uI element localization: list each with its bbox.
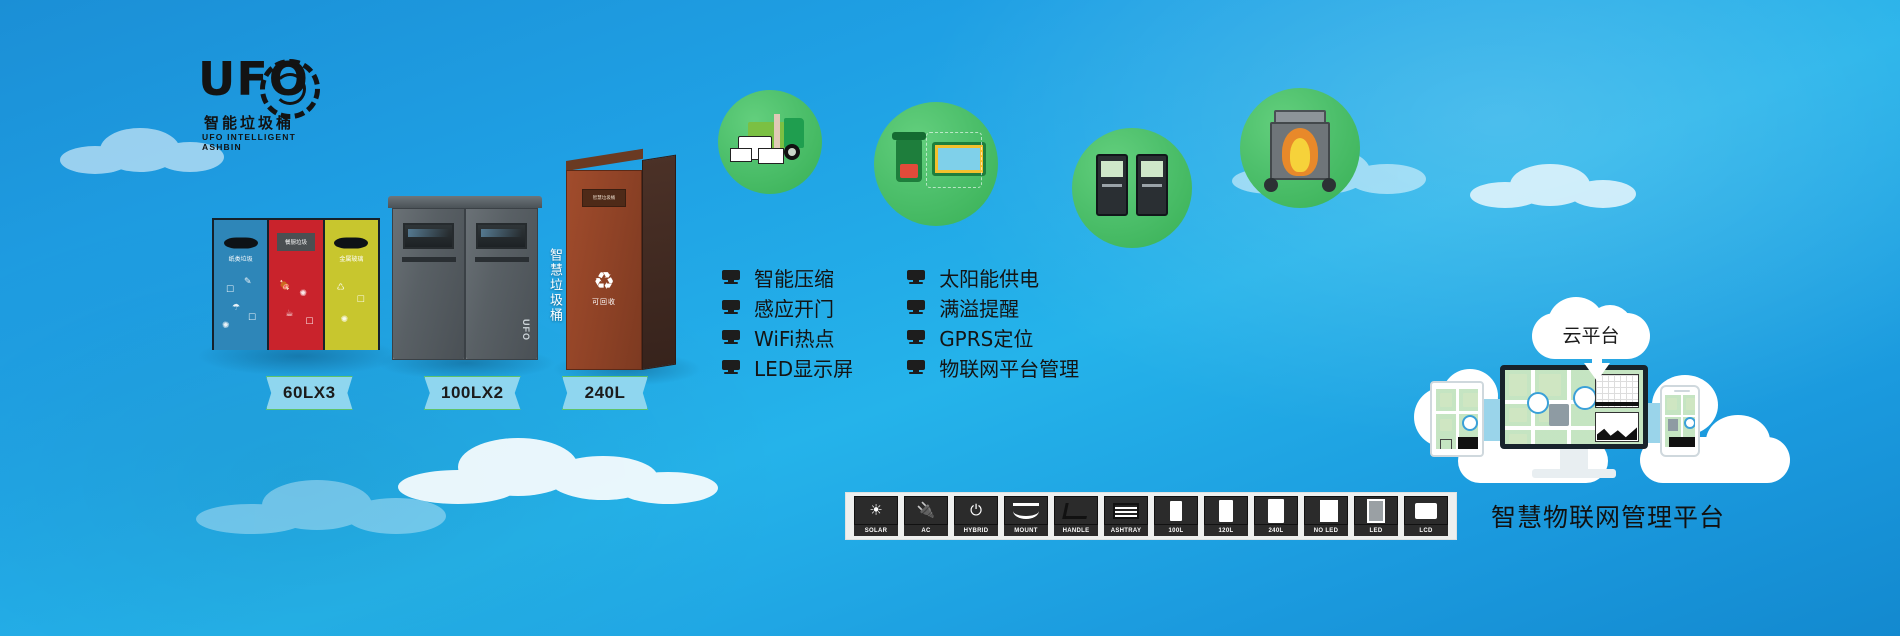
logo-ring-icon: [260, 59, 320, 119]
spec-icon-label: HYBRID: [954, 525, 998, 536]
feature-item: 满溢提醒: [907, 292, 1079, 322]
bin-brand-mark: UFO: [521, 319, 531, 341]
cloud-decoration: [196, 470, 456, 540]
cloud-decoration: [1470, 160, 1640, 216]
bin-front-face: 智慧垃圾桶 ♻ 可回收: [566, 170, 642, 370]
bin-info-panel: 智慧垃圾桶: [582, 189, 626, 207]
download-arrow-icon: [1584, 363, 1610, 381]
monitor-bullet-icon: [907, 360, 925, 374]
feature-column-left: 智能压缩 感应开门 WiFi热点 LED显示屏: [722, 262, 853, 382]
logo-chinese-name: 智能垃圾桶: [204, 112, 294, 133]
feature-item: 感应开门: [722, 292, 853, 322]
feature-item: GPRS定位: [907, 322, 1079, 352]
spec-icon-label: 240L: [1254, 525, 1298, 536]
bin-display-screen: [476, 223, 527, 249]
poster-canvas: UFO 智能垃圾桶 UFO INTELLIGENT ASHBIN 纸类垃圾 ☐ …: [0, 0, 1900, 636]
capacity-banner-100lx2: 100LX2: [424, 376, 521, 410]
bin-right-half: UFO: [465, 208, 538, 360]
spec-icon-ac: 🔌 AC: [904, 496, 948, 536]
spec-icon-handle: HANDLE: [1054, 496, 1098, 536]
spec-icon-label: ASHTRAY: [1104, 525, 1148, 536]
spec-icon-strip: ☀ SOLAR 🔌 AC ⏻ HYBRID MOUNT HANDLE ASHTR…: [845, 492, 1457, 540]
monitor-stand: [1560, 449, 1588, 471]
bin-panel: 餐厨垃圾 🍖 ✺ ☕ ☐: [267, 218, 322, 350]
bin-240l-icon: [1268, 499, 1284, 523]
feature-item: 物联网平台管理: [907, 352, 1079, 382]
ashtray-icon: [1113, 503, 1139, 519]
tablet-device: [1430, 381, 1484, 457]
spec-icon-label: LCD: [1404, 525, 1448, 536]
monitor-bullet-icon: [722, 360, 740, 374]
feature-item: LED显示屏: [722, 352, 853, 382]
logo-english-name: UFO INTELLIGENT ASHBIN: [202, 132, 318, 152]
lcd-screen-icon: [1415, 503, 1437, 519]
bin-slot-icon: [224, 238, 258, 249]
spec-icon-label: HANDLE: [1054, 525, 1098, 536]
bin-panel: 纸类垃圾 ☐ ✎ ☂ ☐ ✺: [212, 218, 267, 350]
spec-icon-no-led: NO LED: [1304, 496, 1348, 536]
spec-icon-ashtray: ASHTRAY: [1104, 496, 1148, 536]
led-panel-icon: [1367, 499, 1385, 523]
collection-truck-circle: [718, 90, 822, 194]
monitor-bullet-icon: [907, 330, 925, 344]
hybrid-power-icon: ⏻: [970, 503, 982, 518]
no-led-icon: [1314, 500, 1338, 522]
fire-alarm-circle: [1240, 88, 1360, 208]
monitor-bullet-icon: [907, 300, 925, 314]
spec-icon-240l: 240L: [1254, 496, 1298, 536]
bin-panel-label: 金属玻璃: [325, 254, 378, 263]
capacity-banner-60lx3: 60LX3: [266, 376, 353, 410]
power-plug-icon: 🔌: [917, 503, 936, 518]
capacity-banner-240l: 240L: [562, 376, 648, 410]
monitor-bullet-icon: [722, 330, 740, 344]
recycle-icon: ♻: [591, 269, 617, 295]
solar-compaction-circle: [874, 102, 998, 226]
twin-grey-bin: UFO 智慧垃圾桶: [392, 196, 538, 360]
spec-icon-label: SOLAR: [854, 525, 898, 536]
cloud-bubble: [1706, 415, 1770, 467]
spec-icon-led: LED: [1354, 496, 1398, 536]
feature-label: 物联网平台管理: [939, 353, 1079, 382]
feature-column-right: 太阳能供电 满溢提醒 GPRS定位 物联网平台管理: [907, 262, 1079, 382]
spec-icon-label: 100L: [1154, 525, 1198, 536]
bin-recycle-label: 可回收: [592, 297, 616, 307]
bin-120l-icon: [1219, 500, 1233, 522]
handle-icon: [1062, 503, 1089, 519]
feature-item: 智能压缩: [722, 262, 853, 292]
monitor-bullet-icon: [722, 300, 740, 314]
cloud-platform-label: 云平台: [1536, 321, 1646, 348]
bin-side-text: 智慧垃圾桶: [544, 248, 564, 323]
bin-100l-icon: [1170, 501, 1182, 521]
monitor-base: [1532, 469, 1616, 478]
bin-left-half: [392, 208, 465, 360]
spec-icon-120l: 120L: [1204, 496, 1248, 536]
spec-icon-label: 120L: [1204, 525, 1248, 536]
spec-icon-100l: 100L: [1154, 496, 1198, 536]
monitor-bullet-icon: [907, 270, 925, 284]
spec-icon-lcd: LCD: [1404, 496, 1448, 536]
cloud-platform-illustration: 云平台: [1424, 295, 1844, 485]
spec-icon-label: MOUNT: [1004, 525, 1048, 536]
bin-display-screen: [403, 223, 454, 249]
bin-panel-label: 纸类垃圾: [214, 254, 267, 263]
feature-label: WiFi热点: [754, 323, 835, 352]
feature-item: WiFi热点: [722, 322, 853, 352]
bin-slot-icon: [334, 238, 368, 249]
platform-caption: 智慧物联网管理平台: [1448, 498, 1768, 534]
bin-slot-icon: [475, 257, 529, 262]
sun-icon: ☀: [869, 503, 882, 518]
spec-icon-label: LED: [1354, 525, 1398, 536]
bin-side-face: [642, 155, 676, 370]
bin-slot-icon: [402, 257, 456, 262]
bin-roof: [388, 196, 542, 208]
feature-label: LED显示屏: [754, 353, 853, 382]
feature-label: GPRS定位: [939, 323, 1033, 352]
brown-bin: 智慧垃圾桶 ♻ 可回收: [566, 170, 676, 370]
feature-label: 太阳能供电: [939, 263, 1039, 292]
feature-item: 太阳能供电: [907, 262, 1079, 292]
three-colour-bin: 纸类垃圾 ☐ ✎ ☂ ☐ ✺ 餐厨垃圾 🍖 ✺ ☕ ☐: [212, 218, 380, 350]
spec-icon-hybrid: ⏻ HYBRID: [954, 496, 998, 536]
bin-lid: [566, 149, 643, 171]
bin-panel-plate: 餐厨垃圾: [277, 233, 315, 251]
feature-label: 感应开门: [754, 293, 834, 322]
spec-icon-label: AC: [904, 525, 948, 536]
bin-panel: 金属玻璃 ♺ ☐ ✺: [323, 218, 380, 350]
spec-icon-solar: ☀ SOLAR: [854, 496, 898, 536]
feature-list: 智能压缩 感应开门 WiFi热点 LED显示屏 太阳能供电 满溢提醒: [722, 262, 1079, 382]
monitor-bullet-icon: [722, 270, 740, 284]
feature-label: 智能压缩: [754, 263, 834, 292]
feature-label: 满溢提醒: [939, 293, 1019, 322]
twin-bin-circle: [1072, 128, 1192, 248]
spec-icon-label: NO LED: [1304, 525, 1348, 536]
smartphone-device: [1660, 385, 1700, 457]
brand-logo: UFO 智能垃圾桶 UFO INTELLIGENT ASHBIN: [198, 54, 318, 150]
spec-icon-mount: MOUNT: [1004, 496, 1048, 536]
wall-mount-icon: [1013, 503, 1039, 519]
desktop-monitor: [1500, 365, 1648, 449]
